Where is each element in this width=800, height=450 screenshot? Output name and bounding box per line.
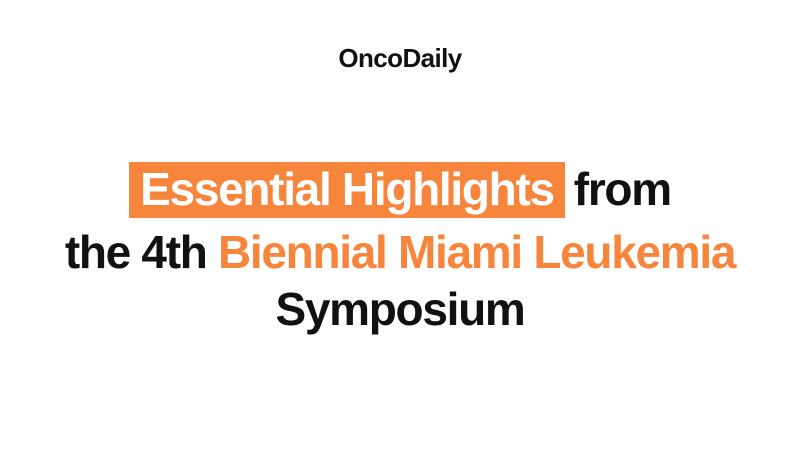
- headline-line-3: Symposium: [0, 281, 800, 338]
- headline-line-2-dark-text: the 4th: [65, 226, 207, 278]
- headline-line-2: the 4th Biennial Miami Leukemia: [0, 224, 800, 281]
- headline-highlight-essential-highlights: Essential Highlights: [129, 162, 565, 218]
- brand-logo-oncodaily: OncoDaily: [0, 44, 800, 73]
- headline-line-3-dark-text: Symposium: [275, 283, 524, 335]
- headline-block: Essential Highlightsfrom the 4th Biennia…: [0, 158, 800, 338]
- headline-line-1-trailing-word: from: [565, 161, 671, 218]
- headline-line-2-orange-text: Biennial Miami Leukemia: [218, 226, 735, 278]
- headline-line-1: Essential Highlightsfrom: [0, 158, 800, 218]
- title-slide: OncoDaily Essential Highlightsfrom the 4…: [0, 0, 800, 450]
